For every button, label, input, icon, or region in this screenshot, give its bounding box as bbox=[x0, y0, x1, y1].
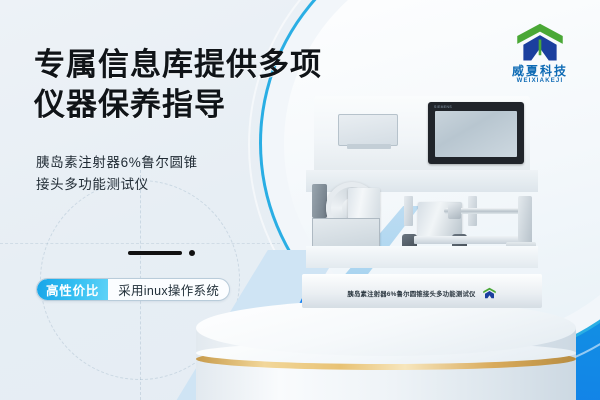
brand-name-en: WEIXIAKEJI bbox=[492, 78, 588, 85]
machine-hmi-screen: SIEMENS bbox=[428, 102, 524, 164]
decor-guide-horizontal bbox=[0, 243, 280, 244]
product-promo-banner: SIEMENS 胰岛素注射器6%鲁尔圆锥接头多功能测试仪 bbox=[0, 0, 600, 400]
hmi-display-glass bbox=[435, 111, 517, 157]
machine-worktable bbox=[306, 246, 538, 268]
pedestal bbox=[196, 300, 576, 400]
hexagon-shield-logo-icon bbox=[482, 287, 497, 300]
page-title: 专属信息库提供多项 仪器保养指导 bbox=[34, 46, 354, 125]
pedestal-top bbox=[196, 300, 576, 356]
machine-caption: 胰岛素注射器6%鲁尔圆锥接头多功能测试仪 bbox=[306, 287, 538, 300]
feature-pill-text: 采用inux操作系统 bbox=[108, 279, 229, 300]
machine-left-clamp bbox=[312, 184, 327, 218]
headline-line-2: 仪器保养指导 bbox=[34, 86, 354, 126]
subtitle-line-2: 接头多功能测试仪 bbox=[36, 174, 286, 196]
product-machine: SIEMENS 胰岛素注射器6%鲁尔圆锥接头多功能测试仪 bbox=[296, 96, 548, 308]
feature-pill[interactable]: 高性价比 采用inux操作系统 bbox=[36, 278, 230, 301]
subtitle-line-1: 胰岛素注射器6%鲁尔圆锥 bbox=[36, 155, 198, 170]
machine-shaft-collar bbox=[448, 203, 461, 219]
divider-dash-dot-icon bbox=[128, 250, 195, 256]
divider-dot bbox=[189, 250, 195, 256]
headline-line-1: 专属信息库提供多项 bbox=[34, 47, 322, 83]
brand-name-cn: 威夏科技 bbox=[492, 65, 588, 78]
hmi-brand-label: SIEMENS bbox=[434, 105, 452, 109]
feature-pill-tag: 高性价比 bbox=[37, 279, 108, 300]
machine-caption-text: 胰岛素注射器6%鲁尔圆锥接头多功能测试仪 bbox=[347, 289, 475, 298]
hexagon-shield-logo-icon bbox=[513, 22, 567, 64]
brand-logo: 威夏科技 WEIXIAKEJI bbox=[492, 22, 588, 85]
fixture-post-left bbox=[404, 196, 413, 226]
divider-bar bbox=[128, 251, 182, 255]
page-subtitle: 胰岛素注射器6%鲁尔圆锥 接头多功能测试仪 bbox=[36, 152, 286, 196]
